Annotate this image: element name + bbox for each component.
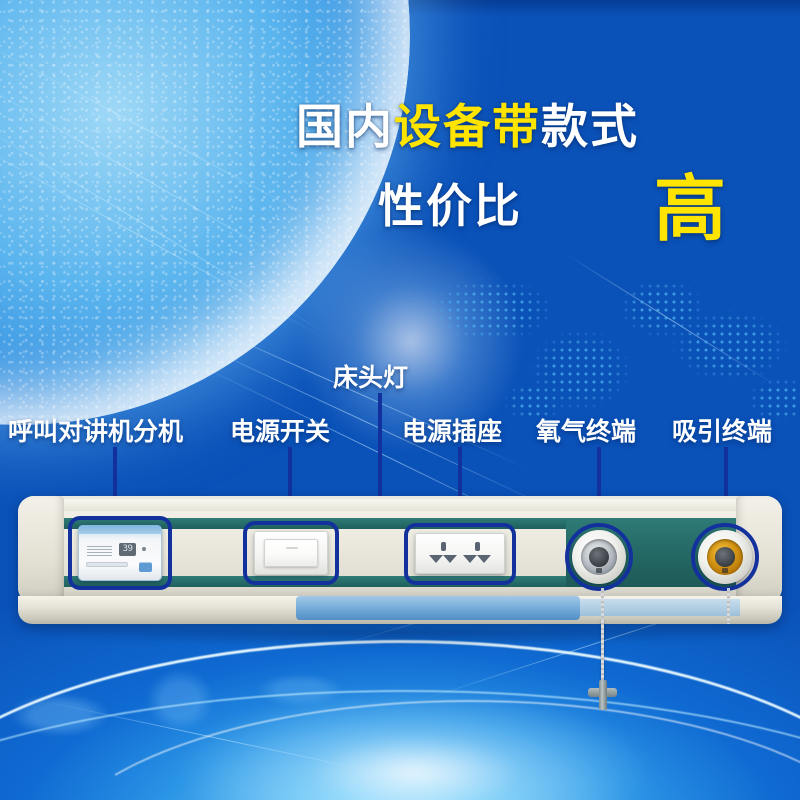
horizon-glow bbox=[180, 690, 650, 800]
panel-top-highlight bbox=[22, 499, 778, 511]
highlight-ring-suction bbox=[691, 523, 759, 591]
panel-rail-light-diffuser bbox=[296, 596, 580, 620]
callout-label-oxygen: 氧气终端 bbox=[536, 412, 636, 448]
headline-1-highlight: 设备带 bbox=[394, 100, 541, 153]
pull-cord-handle[interactable] bbox=[588, 680, 617, 710]
headline-line-1: 国内设备带款式 bbox=[296, 88, 639, 157]
panel-rail-light-diffuser-secondary bbox=[580, 599, 740, 616]
headline-1-part-3: 款式 bbox=[541, 100, 639, 153]
callout-label-bedside-lamp: 床头灯 bbox=[333, 358, 408, 394]
callout-label-suction: 吸引终端 bbox=[672, 412, 772, 448]
callout-label-power-switch: 电源开关 bbox=[230, 412, 330, 448]
headline-line-2: 性价比 bbox=[378, 170, 522, 236]
headline-1-part-1: 国内 bbox=[296, 100, 394, 153]
highlight-box-power-socket bbox=[404, 523, 516, 585]
callout-label-intercom: 呼叫对讲机分机 bbox=[8, 412, 183, 448]
bedside-lamp-pull-cord[interactable] bbox=[601, 620, 604, 686]
highlight-box-intercom bbox=[68, 516, 172, 590]
panel-end-cap-left bbox=[18, 496, 64, 604]
highlight-ring-oxygen bbox=[565, 523, 633, 591]
oxygen-terminal-lanyard bbox=[601, 588, 604, 622]
highlight-box-power-switch bbox=[243, 521, 339, 585]
suction-terminal-lanyard bbox=[727, 588, 730, 624]
pull-cord-shaft bbox=[599, 680, 607, 710]
callout-label-power-socket: 电源插座 bbox=[402, 412, 502, 448]
headline-emphasis-gao: 高 bbox=[654, 150, 728, 255]
poster-canvas: 国内设备带款式 性价比 高 呼叫对讲机分机 电源开关 床头灯 电源插座 氧气终端… bbox=[0, 0, 800, 800]
